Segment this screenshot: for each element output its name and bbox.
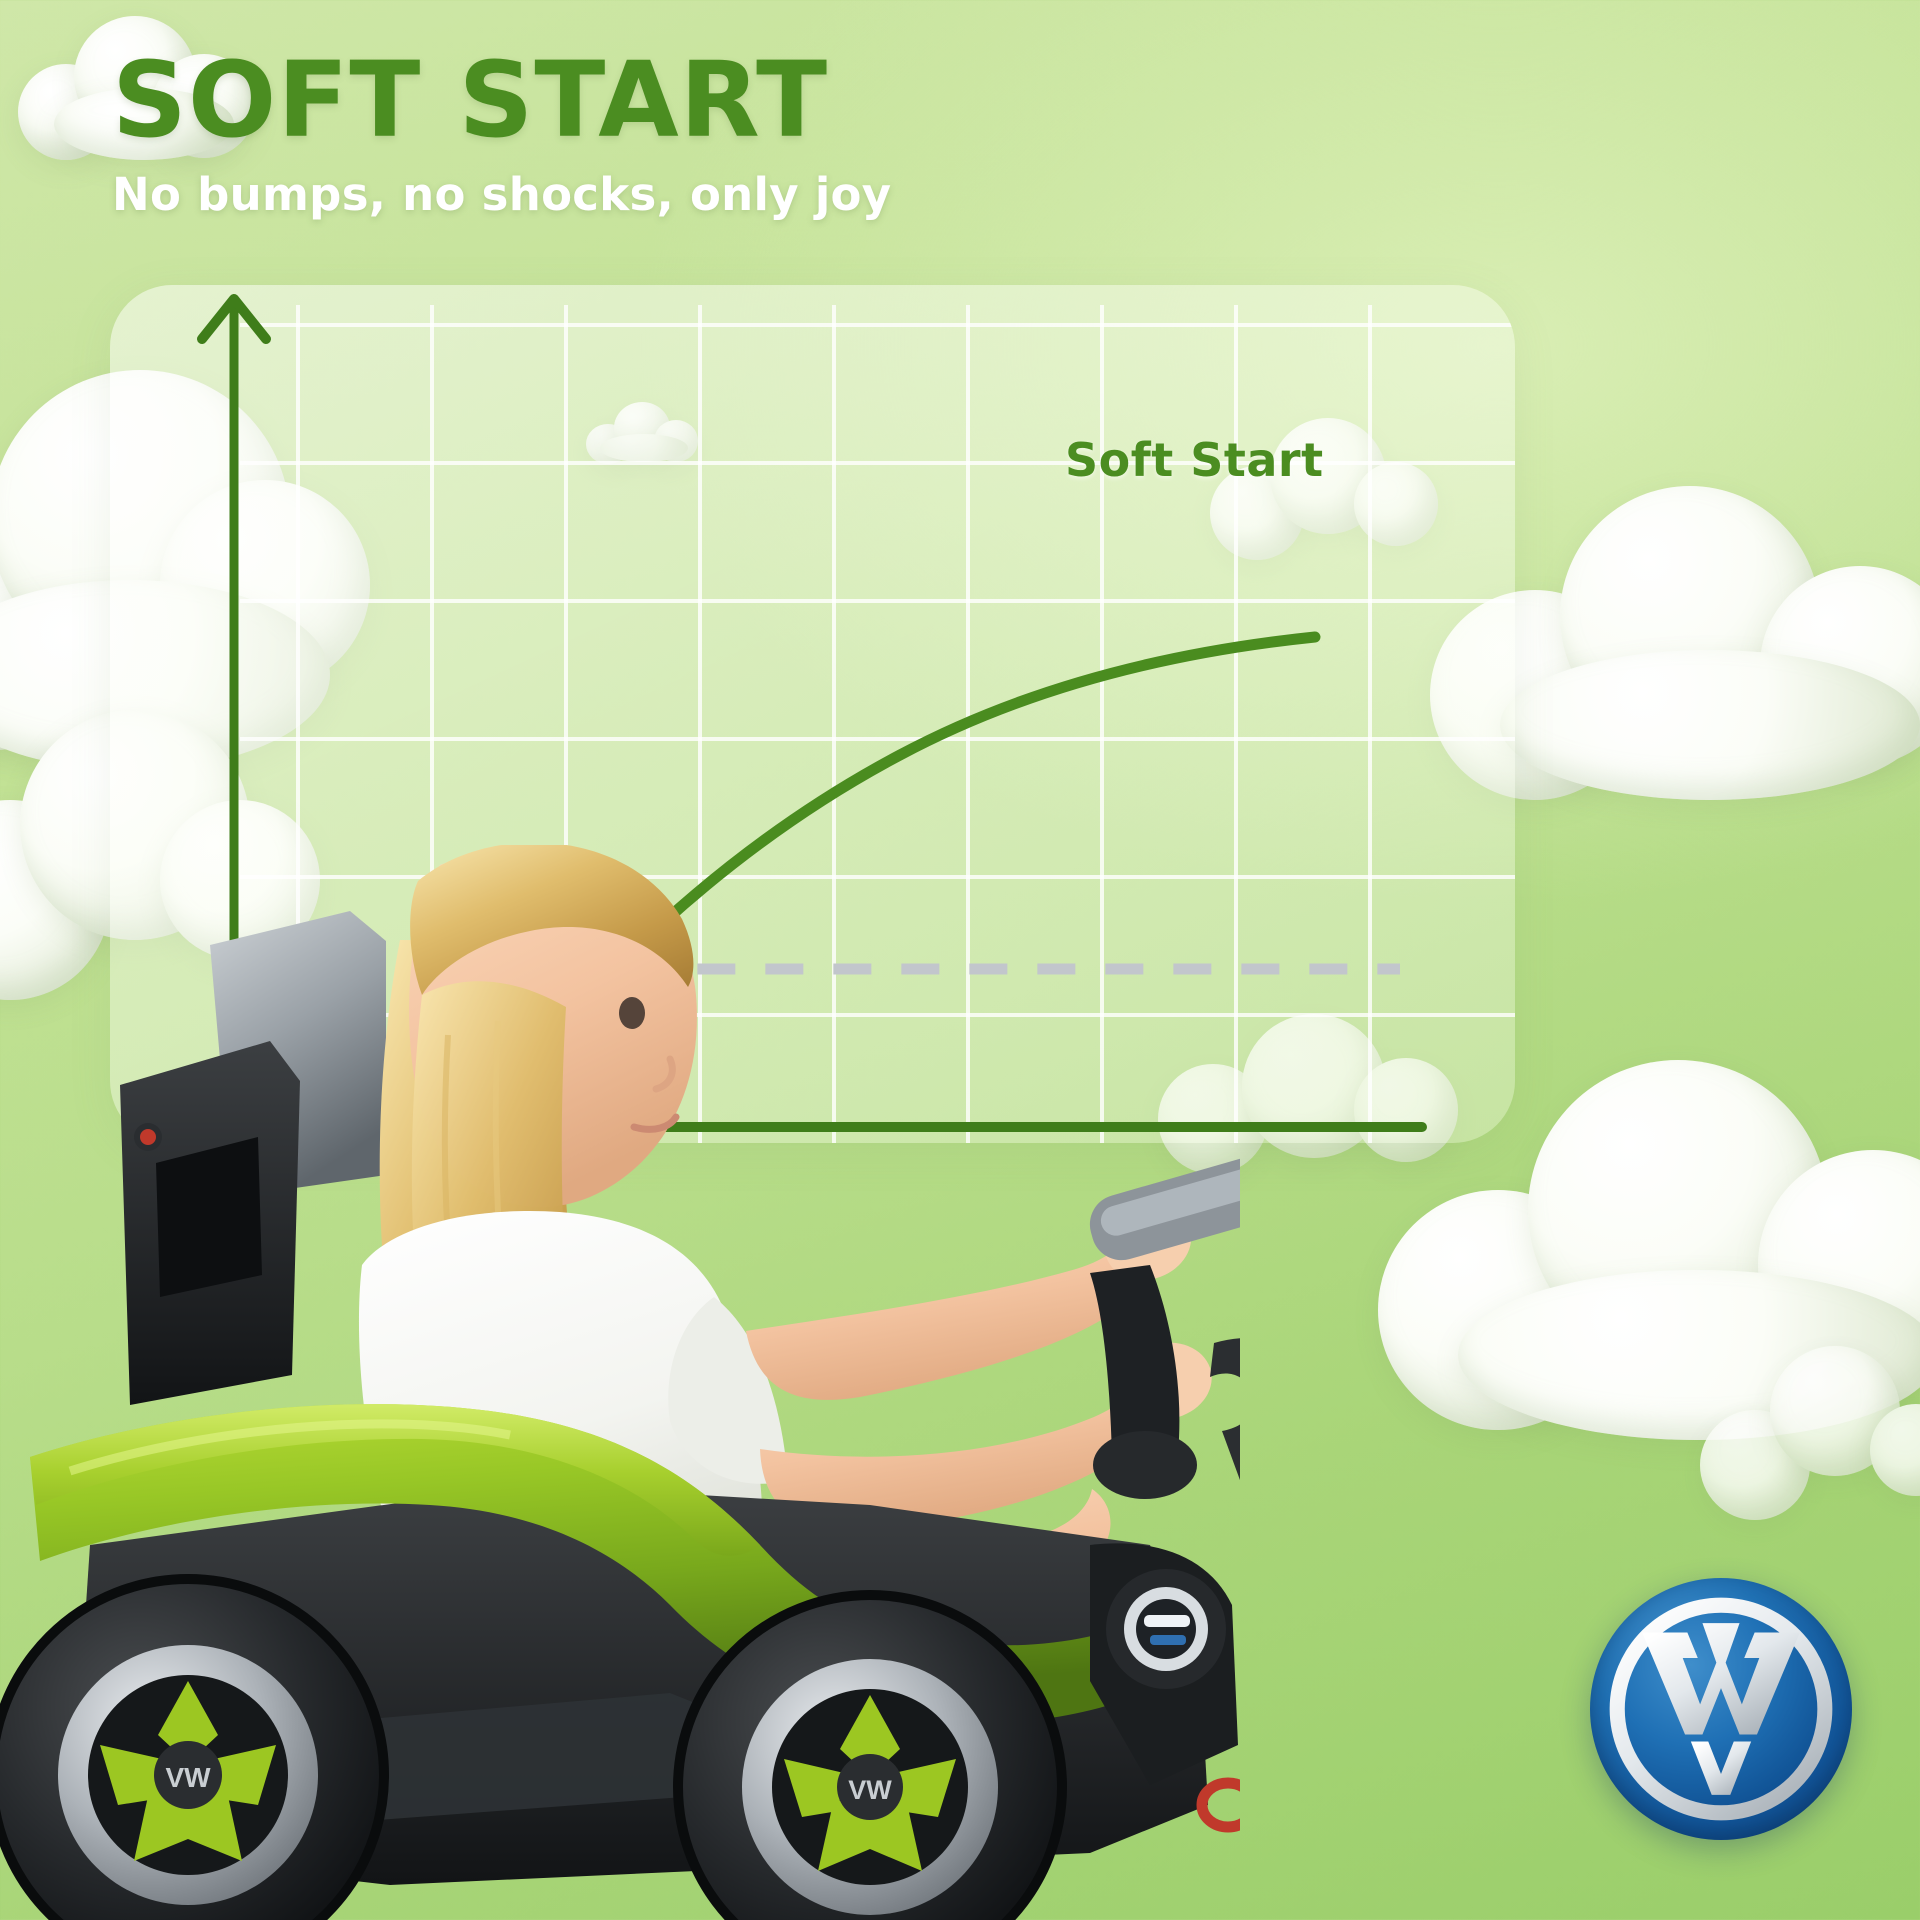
- steering-wheel: [1083, 1149, 1240, 1499]
- vw-logo: [1590, 1578, 1852, 1840]
- page-subtitle: No bumps, no shocks, only joy: [112, 168, 891, 221]
- rider-eye: [619, 997, 645, 1029]
- product-photo: VW VW: [0, 845, 1240, 1920]
- cloud-bottom-right: [1700, 1330, 1920, 1520]
- headline-block: SOFT START No bumps, no shocks, only joy: [112, 48, 891, 221]
- vehicle-rollbar: [120, 911, 386, 1405]
- page-title: SOFT START: [112, 48, 891, 152]
- vw-logo-mark: [1605, 1593, 1837, 1825]
- svg-text:VW: VW: [848, 1775, 892, 1805]
- series-label-soft-start: Soft Start: [1065, 433, 1324, 487]
- svg-text:VW: VW: [165, 1762, 211, 1793]
- dashboard-shroud: [1210, 1338, 1240, 1491]
